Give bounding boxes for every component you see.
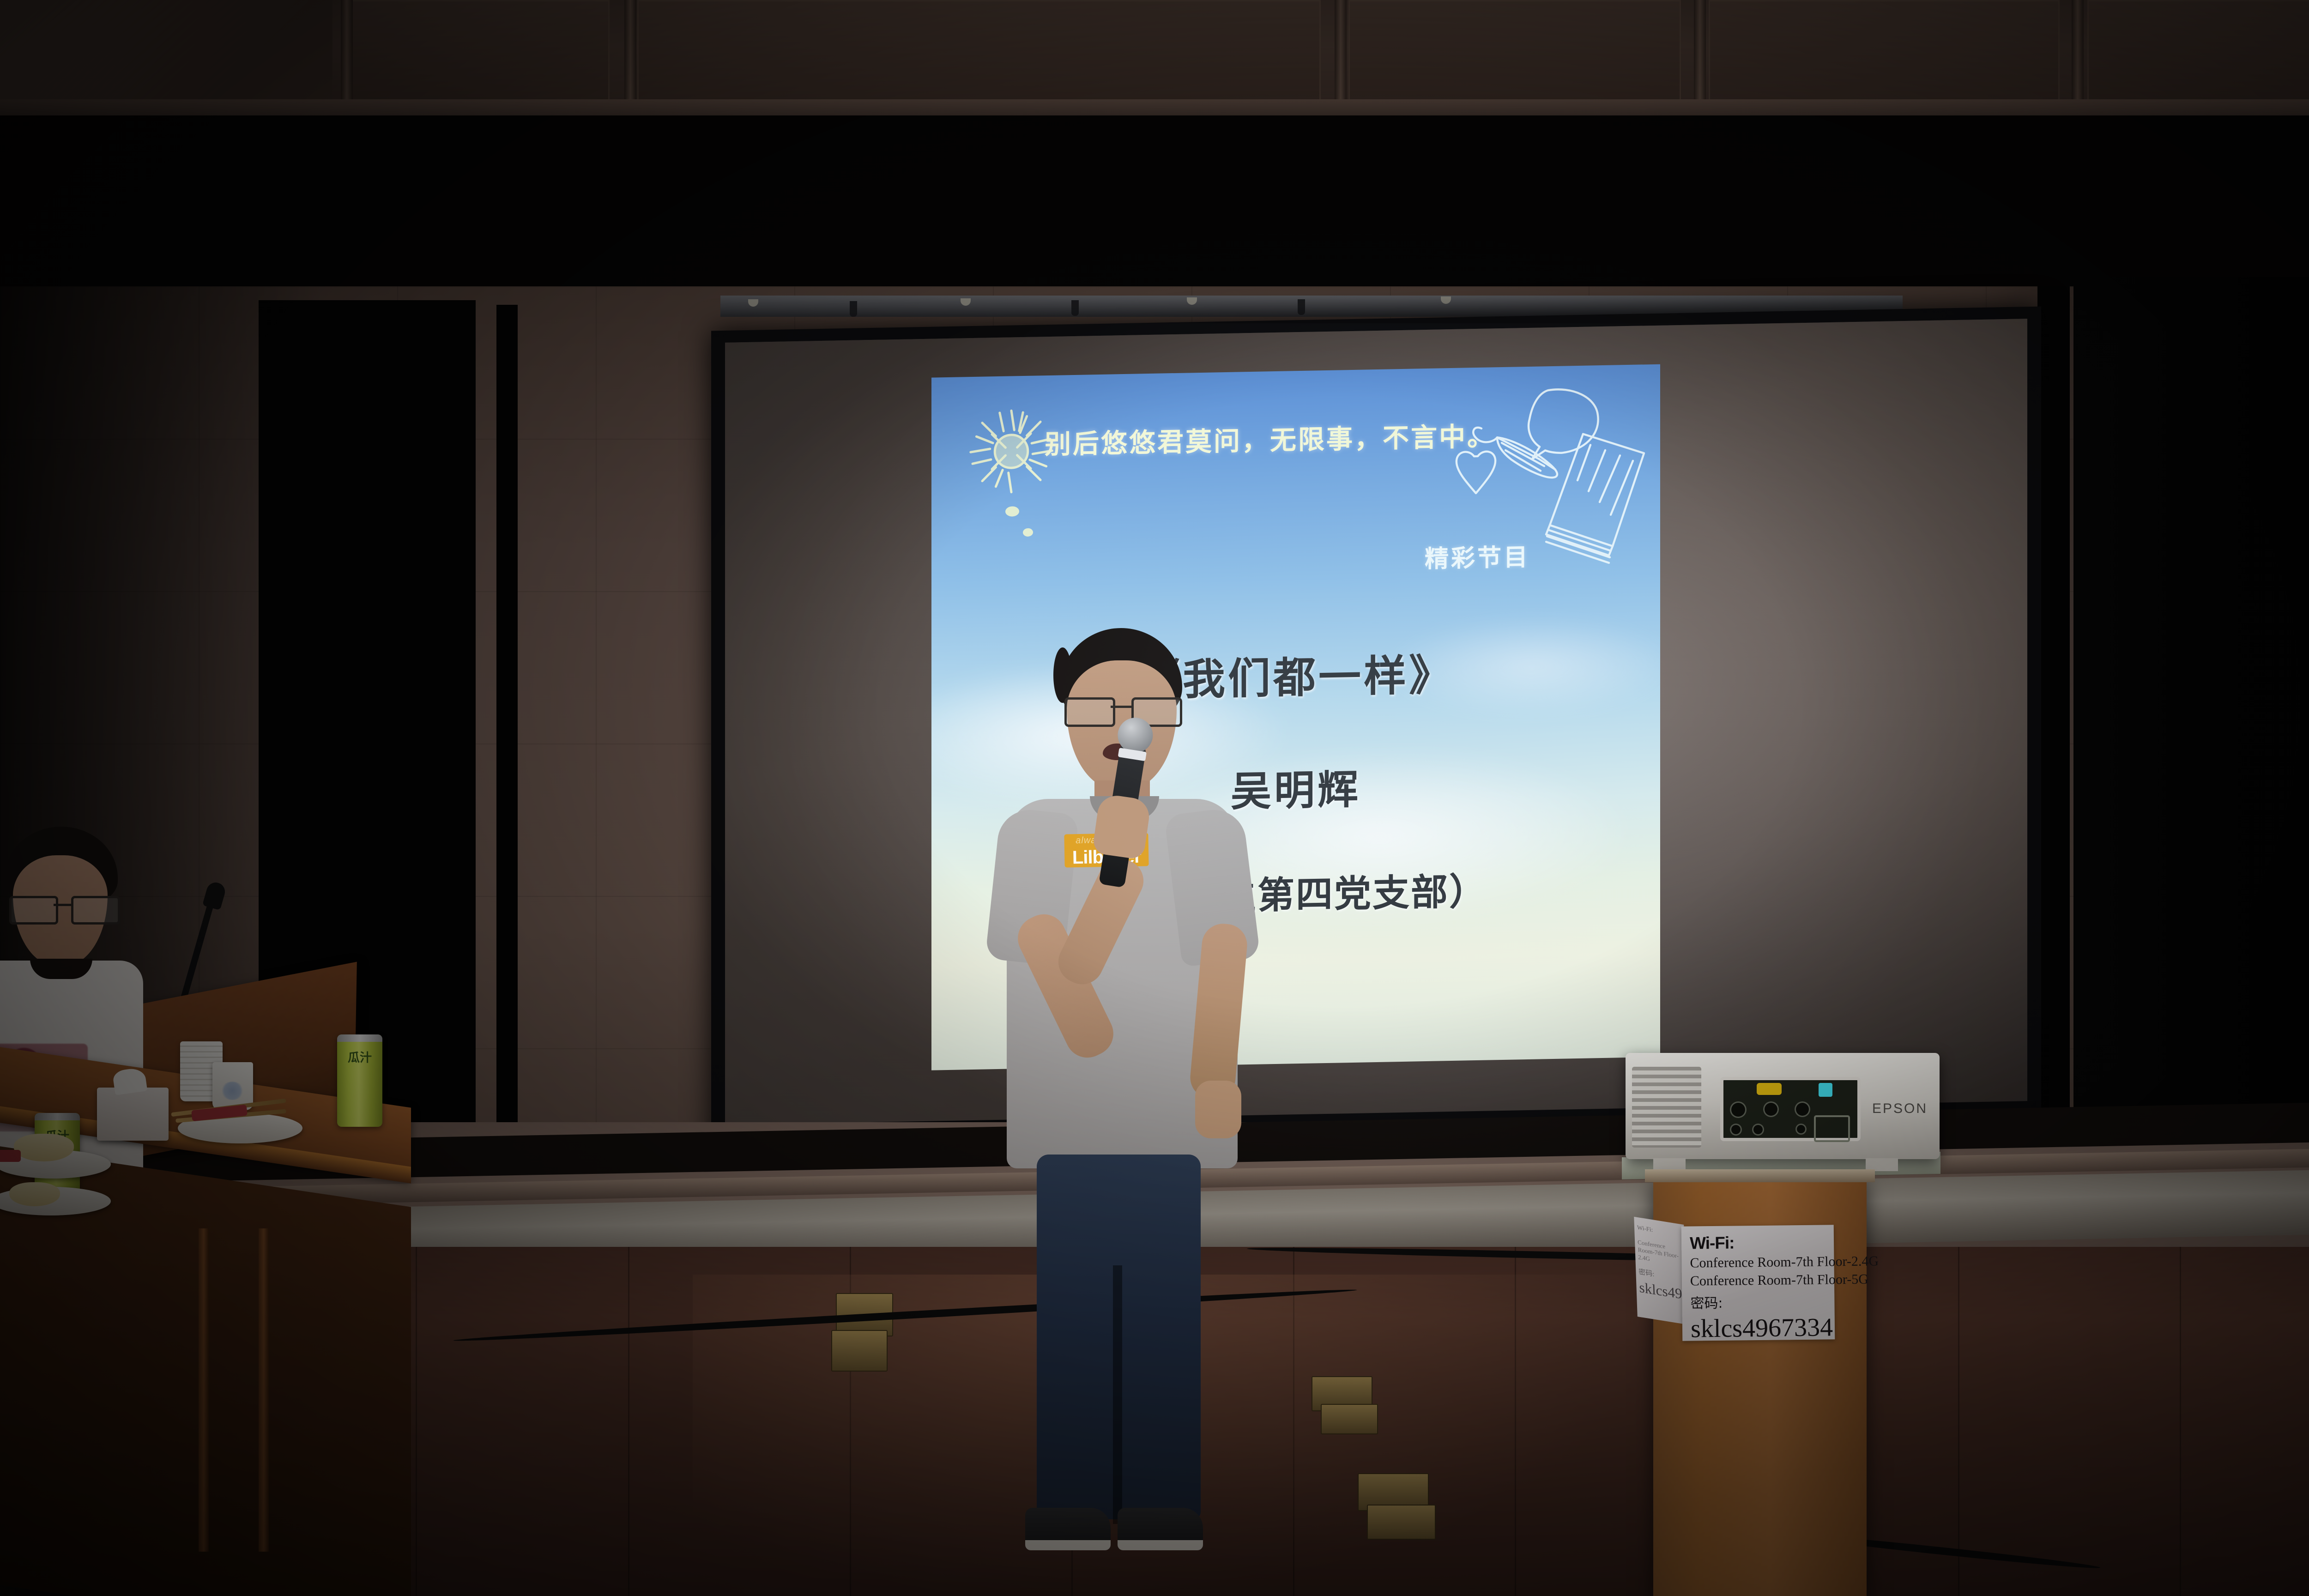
slide-doodle-label: 精彩节目	[1425, 538, 1530, 574]
food-item	[0, 1150, 21, 1162]
glasses-icon	[1064, 697, 1180, 723]
side-drape-left-edge	[496, 305, 518, 1247]
speech-bubble-icon	[1529, 389, 1598, 459]
curtain-hook	[1298, 299, 1305, 315]
projection-screen-frame: 别后悠悠君莫问，无限事，不言中。	[711, 307, 2041, 1167]
projector: EPSON	[1626, 1053, 1940, 1159]
ceiling	[0, 0, 2309, 115]
ceiling-panel	[351, 0, 610, 115]
wifi-sign-side: Wi-Fi: Conference Room-7th Floor-2.4G 密码…	[1634, 1217, 1687, 1325]
curtain-hook	[850, 301, 857, 317]
performer-shoe-left	[1025, 1508, 1111, 1550]
projector-vent	[1632, 1067, 1701, 1148]
wifi-side-heading: Wi-Fi:	[1637, 1224, 1682, 1238]
curtain-hook	[1187, 297, 1197, 305]
curtain-hook	[961, 298, 971, 306]
food-item-apple	[9, 1182, 60, 1206]
projector-port-panel	[1720, 1077, 1861, 1141]
juice-can: 瓜汁	[337, 1034, 382, 1127]
ceiling-rib	[2072, 0, 2084, 115]
ceiling-rib	[341, 0, 353, 115]
wifi-ssid-5g: Conference Room-7th Floor-5G	[1690, 1272, 1826, 1289]
wifi-password-label: 密码:	[1690, 1290, 1826, 1312]
performer-shoe-right	[1118, 1508, 1203, 1550]
performer-figure: always to live Lilbetter	[979, 628, 1265, 1492]
ceiling-rib	[624, 0, 636, 115]
glasses-icon	[9, 896, 115, 921]
stage-valance	[0, 115, 2309, 314]
stage-floor-outlet	[1321, 1404, 1378, 1434]
stage-floor-outlet	[1367, 1505, 1436, 1540]
wifi-ssid-24g: Conference Room-7th Floor-2.4G	[1690, 1254, 1825, 1271]
wifi-password: sklcs4967334	[1691, 1312, 1827, 1343]
ceiling-panel	[1348, 0, 1681, 115]
ceiling-left-wedge	[0, 0, 332, 115]
food-item-apple	[14, 1134, 74, 1161]
juice-can-label: 瓜汁	[337, 1052, 382, 1064]
performer-jeans	[1037, 1155, 1201, 1519]
wifi-heading: Wi-Fi:	[1690, 1232, 1825, 1253]
sun-sparkle-dot	[1023, 528, 1033, 537]
sun-sparkle-dot	[1005, 506, 1019, 517]
curtain-hook	[1071, 300, 1079, 316]
curtain-hook	[1441, 296, 1451, 304]
performer-hand-right	[1195, 1081, 1241, 1138]
ceiling-panel	[637, 0, 1321, 115]
ceiling-panel	[2087, 0, 2309, 115]
ceiling-rib	[1694, 0, 1706, 115]
heart-icon	[1457, 451, 1495, 493]
performer-hand-left	[1092, 793, 1151, 860]
projector-brand-label: EPSON	[1872, 1101, 1928, 1117]
stage-photo-scene: 别后悠悠君莫问，无限事，不言中。	[0, 0, 2309, 1596]
stage-floor-outlet	[831, 1330, 888, 1372]
ceiling-rib	[1335, 0, 1347, 115]
wifi-side-ssid: Conference Room-7th Floor-2.4G	[1638, 1239, 1683, 1268]
tissue-box	[97, 1088, 169, 1141]
wifi-side-password: sklcs4967334	[1639, 1279, 1684, 1303]
ceiling-panel	[1709, 0, 2060, 115]
wifi-sign: Wi-Fi: Conference Room-7th Floor-2.4G Co…	[1681, 1225, 1835, 1341]
podium-top-surface	[1645, 1169, 1875, 1182]
podium: Wi-Fi: Conference Room-7th Floor-2.4G 密码…	[1653, 1177, 1867, 1596]
curtain-hook	[748, 299, 758, 307]
